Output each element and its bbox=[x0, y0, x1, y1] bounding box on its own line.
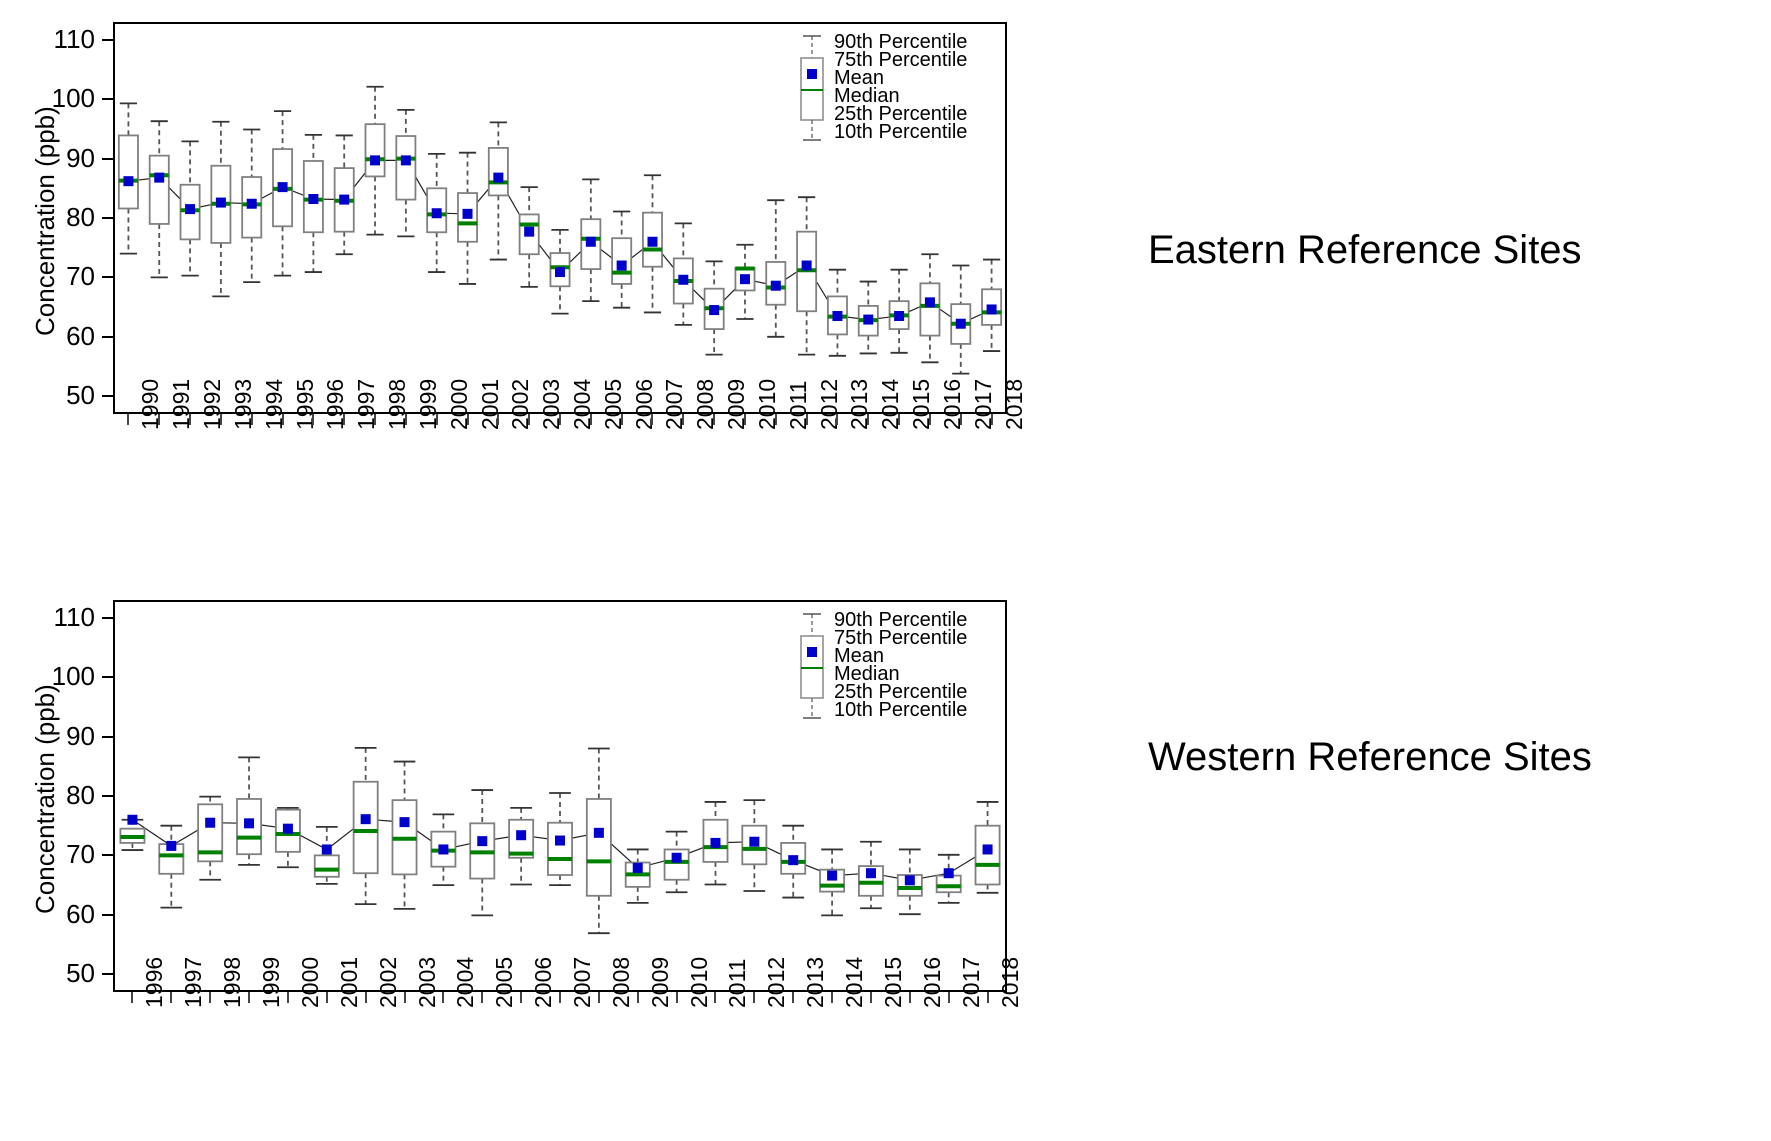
x-tick-label: 2011 bbox=[785, 381, 812, 430]
x-tick-label: 1998 bbox=[384, 379, 411, 430]
x-tick-label: 2003 bbox=[414, 957, 441, 1008]
x-tick-label: 2011 bbox=[724, 959, 751, 1008]
x-tick-label: 2013 bbox=[802, 957, 829, 1008]
x-tick-mark bbox=[467, 414, 469, 425]
y-tick-mark bbox=[102, 795, 113, 797]
y-tick-label: 100 bbox=[23, 661, 95, 692]
x-tick-label: 2015 bbox=[908, 379, 935, 430]
x-tick-label: 2012 bbox=[816, 379, 843, 430]
x-tick-mark bbox=[365, 992, 367, 1003]
x-tick-label: 1997 bbox=[353, 379, 380, 430]
x-tick-label: 2003 bbox=[538, 379, 565, 430]
x-tick-mark bbox=[590, 414, 592, 425]
x-tick-mark bbox=[520, 992, 522, 1003]
x-tick-mark bbox=[127, 414, 129, 425]
x-tick-mark bbox=[987, 992, 989, 1003]
x-tick-label: 1991 bbox=[168, 379, 195, 430]
x-tick-label: 2005 bbox=[600, 379, 627, 430]
x-tick-label: 2010 bbox=[754, 379, 781, 430]
x-tick-label: 2007 bbox=[661, 379, 688, 430]
x-tick-label: 1998 bbox=[219, 957, 246, 1008]
x-tick-mark bbox=[436, 414, 438, 425]
x-tick-mark bbox=[326, 992, 328, 1003]
legend-item-10th-percentile: 10th Percentile bbox=[834, 122, 967, 142]
x-tick-label: 1995 bbox=[292, 379, 319, 430]
y-tick-mark bbox=[102, 736, 113, 738]
x-tick-mark bbox=[867, 414, 869, 425]
x-tick-label: 2015 bbox=[880, 957, 907, 1008]
y-tick-mark bbox=[102, 617, 113, 619]
x-tick-mark bbox=[898, 414, 900, 425]
x-tick-label: 1994 bbox=[261, 379, 288, 430]
x-tick-mark bbox=[713, 414, 715, 425]
x-tick-label: 2014 bbox=[877, 379, 904, 430]
x-tick-mark bbox=[248, 992, 250, 1003]
chart-panel-eastern: Concentration (ppb) 50607080901001101990… bbox=[0, 0, 1140, 510]
x-tick-mark bbox=[909, 992, 911, 1003]
x-tick-mark bbox=[559, 414, 561, 425]
x-tick-mark bbox=[714, 992, 716, 1003]
x-tick-label: 2004 bbox=[569, 379, 596, 430]
x-tick-label: 2002 bbox=[375, 957, 402, 1008]
x-tick-mark bbox=[991, 414, 993, 425]
legend-item-10th-percentile: 10th Percentile bbox=[834, 700, 967, 720]
x-tick-label: 1992 bbox=[199, 379, 226, 430]
x-tick-mark bbox=[559, 992, 561, 1003]
x-tick-mark bbox=[282, 414, 284, 425]
site-label-eastern: Eastern Reference Sites bbox=[1148, 228, 1582, 273]
y-tick-mark bbox=[102, 158, 113, 160]
y-tick-mark bbox=[102, 973, 113, 975]
x-tick-label: 2001 bbox=[336, 957, 363, 1008]
y-tick-mark bbox=[102, 39, 113, 41]
x-tick-mark bbox=[775, 414, 777, 425]
x-tick-mark bbox=[158, 414, 160, 425]
y-tick-label: 50 bbox=[23, 958, 95, 989]
boxplot-canvas-eastern bbox=[0, 0, 1140, 510]
x-tick-label: 2009 bbox=[647, 957, 674, 1008]
x-tick-label: 1999 bbox=[415, 379, 442, 430]
x-tick-label: 2014 bbox=[841, 957, 868, 1008]
x-tick-label: 1999 bbox=[258, 957, 285, 1008]
y-tick-label: 100 bbox=[23, 83, 95, 114]
x-tick-mark bbox=[343, 414, 345, 425]
y-tick-mark bbox=[102, 336, 113, 338]
x-tick-label: 2008 bbox=[608, 957, 635, 1008]
x-tick-mark bbox=[676, 992, 678, 1003]
x-tick-label: 1990 bbox=[137, 379, 164, 430]
x-tick-mark bbox=[405, 414, 407, 425]
x-tick-mark bbox=[442, 992, 444, 1003]
y-tick-mark bbox=[102, 914, 113, 916]
x-tick-mark bbox=[831, 992, 833, 1003]
x-tick-mark bbox=[682, 414, 684, 425]
x-tick-label: 2007 bbox=[569, 957, 596, 1008]
x-tick-mark bbox=[929, 414, 931, 425]
x-tick-label: 2010 bbox=[686, 957, 713, 1008]
x-tick-mark bbox=[651, 414, 653, 425]
x-tick-label: 2008 bbox=[692, 379, 719, 430]
y-tick-mark bbox=[102, 676, 113, 678]
x-tick-mark bbox=[637, 992, 639, 1003]
x-tick-mark bbox=[374, 414, 376, 425]
x-tick-mark bbox=[251, 414, 253, 425]
x-tick-label: 2018 bbox=[1001, 379, 1028, 430]
y-tick-label: 110 bbox=[23, 24, 95, 55]
x-tick-label: 2001 bbox=[477, 379, 504, 430]
chart-panel-western: Concentration (ppb) 50607080901001101996… bbox=[0, 585, 1140, 1105]
y-tick-mark bbox=[102, 395, 113, 397]
y-tick-mark bbox=[102, 217, 113, 219]
x-tick-mark bbox=[481, 992, 483, 1003]
y-tick-label: 110 bbox=[23, 602, 95, 633]
x-tick-label: 1996 bbox=[322, 379, 349, 430]
y-tick-label: 50 bbox=[23, 380, 95, 411]
x-tick-mark bbox=[792, 992, 794, 1003]
x-tick-label: 2009 bbox=[723, 379, 750, 430]
x-tick-mark bbox=[220, 414, 222, 425]
x-tick-mark bbox=[528, 414, 530, 425]
x-tick-mark bbox=[948, 992, 950, 1003]
x-tick-mark bbox=[209, 992, 211, 1003]
y-tick-label: 80 bbox=[23, 202, 95, 233]
x-tick-label: 2000 bbox=[446, 379, 473, 430]
x-tick-label: 2006 bbox=[530, 957, 557, 1008]
x-tick-label: 2016 bbox=[919, 957, 946, 1008]
x-tick-label: 1993 bbox=[230, 379, 257, 430]
x-tick-mark bbox=[806, 414, 808, 425]
x-tick-mark bbox=[621, 414, 623, 425]
x-tick-mark bbox=[497, 414, 499, 425]
y-tick-label: 80 bbox=[23, 780, 95, 811]
x-tick-mark bbox=[287, 992, 289, 1003]
y-tick-label: 90 bbox=[23, 143, 95, 174]
x-tick-mark bbox=[836, 414, 838, 425]
site-label-western: Western Reference Sites bbox=[1148, 735, 1592, 780]
x-tick-label: 2002 bbox=[507, 379, 534, 430]
x-tick-label: 2016 bbox=[939, 379, 966, 430]
x-tick-label: 2012 bbox=[763, 957, 790, 1008]
x-tick-mark bbox=[404, 992, 406, 1003]
x-tick-mark bbox=[960, 414, 962, 425]
x-tick-label: 2013 bbox=[846, 379, 873, 430]
y-tick-label: 70 bbox=[23, 839, 95, 870]
x-tick-mark bbox=[744, 414, 746, 425]
x-tick-label: 2017 bbox=[958, 957, 985, 1008]
x-tick-label: 2004 bbox=[452, 957, 479, 1008]
x-tick-label: 2018 bbox=[997, 957, 1024, 1008]
x-tick-mark bbox=[189, 414, 191, 425]
x-tick-label: 2006 bbox=[631, 379, 658, 430]
boxplot-canvas-western bbox=[0, 585, 1140, 1105]
y-tick-label: 60 bbox=[23, 899, 95, 930]
x-tick-label: 1997 bbox=[180, 957, 207, 1008]
x-tick-mark bbox=[312, 414, 314, 425]
y-tick-mark bbox=[102, 98, 113, 100]
x-tick-label: 2005 bbox=[491, 957, 518, 1008]
y-tick-label: 60 bbox=[23, 321, 95, 352]
x-tick-mark bbox=[598, 992, 600, 1003]
x-tick-mark bbox=[131, 992, 133, 1003]
x-tick-label: 2017 bbox=[970, 379, 997, 430]
x-tick-label: 1996 bbox=[141, 957, 168, 1008]
x-tick-label: 2000 bbox=[297, 957, 324, 1008]
y-tick-mark bbox=[102, 276, 113, 278]
y-tick-label: 70 bbox=[23, 261, 95, 292]
x-tick-mark bbox=[870, 992, 872, 1003]
y-tick-mark bbox=[102, 854, 113, 856]
x-tick-mark bbox=[170, 992, 172, 1003]
x-tick-mark bbox=[753, 992, 755, 1003]
y-tick-label: 90 bbox=[23, 721, 95, 752]
